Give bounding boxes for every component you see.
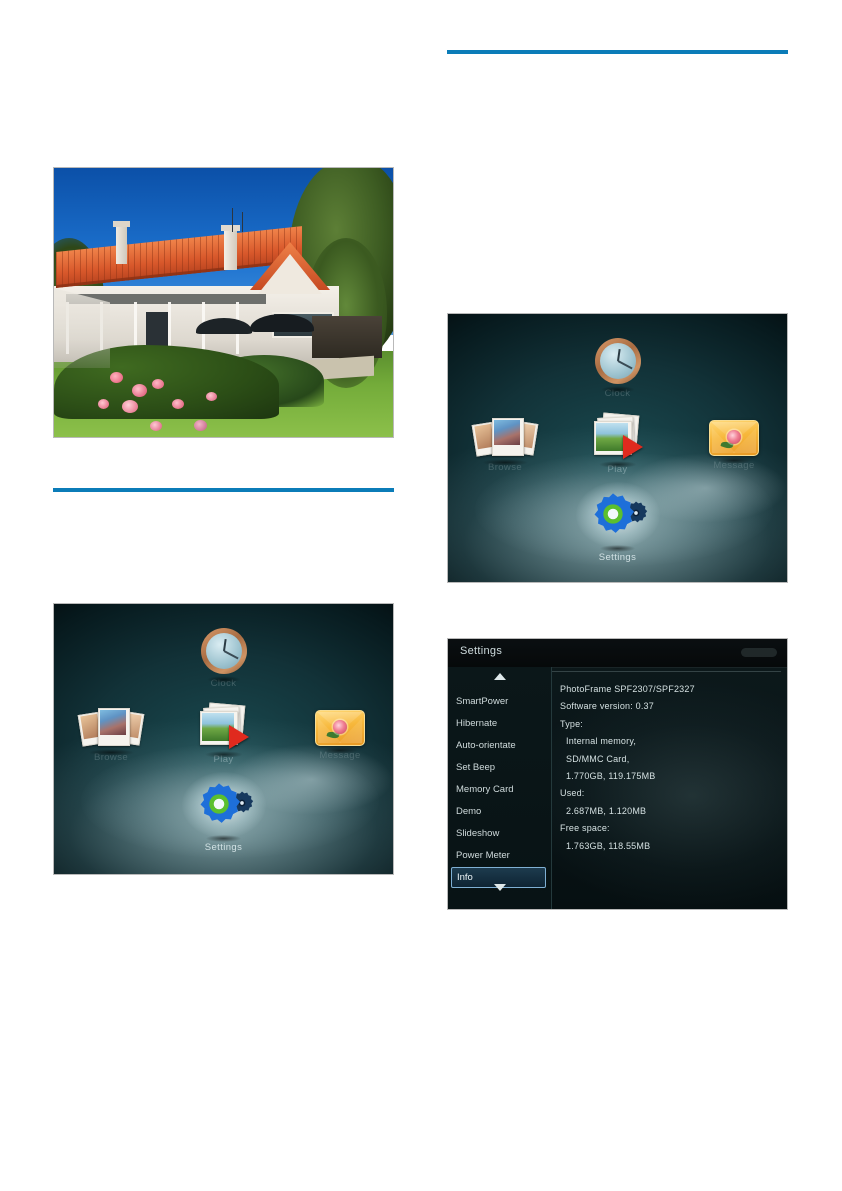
detail-free-values: 1.763GB, 118.55MB <box>560 838 787 855</box>
doorway <box>146 312 168 348</box>
rose-bloom <box>206 392 217 401</box>
menu-item-label: Settings <box>587 552 649 563</box>
settings-detail-panel: PhotoFrame SPF2307/SPF2327 Software vers… <box>552 667 787 909</box>
photoframe-settings-info-screen: Settings SmartPower Hibernate Auto-orien… <box>447 638 788 910</box>
detail-type-card: SD/MMC Card, <box>560 751 787 768</box>
menu-item-label: Settings <box>193 842 255 853</box>
antenna-a <box>232 208 233 232</box>
settings-gear-icon <box>587 490 649 540</box>
photoframe-screen: Clock Browse Play <box>54 604 393 874</box>
photo-scene <box>54 168 393 437</box>
rose-bloom <box>110 372 123 383</box>
settings-menu-list[interactable]: SmartPower Hibernate Auto-orientate Set … <box>448 667 552 909</box>
menu-item-browse[interactable]: Browse <box>474 416 536 473</box>
rose-bloom <box>152 379 164 389</box>
menu-item-settings[interactable]: Settings <box>193 780 255 853</box>
photoframe-home-menu-right: Clock Browse Pla <box>447 313 788 583</box>
document-page: Clock Browse Pla <box>0 0 842 1191</box>
clock-icon <box>595 338 641 384</box>
primary-gear-icon <box>591 492 635 536</box>
detail-software-version: Software version: 0.37 <box>560 698 787 715</box>
menu-item-settings[interactable]: Settings <box>587 490 649 563</box>
photoframe-home-menu-left: Clock Browse Play <box>53 603 394 875</box>
rose-bloom <box>122 400 138 413</box>
settings-header: Settings <box>448 639 787 668</box>
settings-item-auto-orientate[interactable]: Auto-orientate <box>451 735 546 756</box>
rose-bloom <box>98 399 109 409</box>
detail-divider <box>552 671 781 672</box>
header-indicator <box>741 648 777 657</box>
message-icon <box>709 420 759 456</box>
settings-screen: Settings SmartPower Hibernate Auto-orien… <box>448 639 787 909</box>
detail-type-capacity: 1.770GB, 119.175MB <box>560 768 787 785</box>
settings-item-hibernate[interactable]: Hibernate <box>451 713 546 734</box>
scroll-up-arrow-icon[interactable] <box>494 673 506 680</box>
rose-bloom <box>194 420 207 431</box>
rose-bloom <box>150 421 162 431</box>
side-shade <box>312 316 382 358</box>
rose-bloom <box>172 399 184 409</box>
chimney-right <box>224 230 237 270</box>
rose-bloom <box>132 384 147 397</box>
play-icon <box>198 704 250 750</box>
settings-item-set-beep[interactable]: Set Beep <box>451 757 546 778</box>
house-garden-photo <box>53 167 394 438</box>
chimney-left <box>116 226 127 264</box>
play-icon <box>592 414 644 460</box>
detail-free-label: Free space: <box>560 820 787 837</box>
settings-item-smartpower[interactable]: SmartPower <box>451 691 546 712</box>
browse-icon <box>474 416 536 458</box>
settings-item-memory-card[interactable]: Memory Card <box>451 779 546 800</box>
menu-item-message[interactable]: Message <box>709 420 759 471</box>
message-icon <box>315 710 365 746</box>
settings-item-slideshow[interactable]: Slideshow <box>451 823 546 844</box>
menu-item-message[interactable]: Message <box>315 710 365 761</box>
detail-model: PhotoFrame SPF2307/SPF2327 <box>560 681 787 698</box>
detail-used-label: Used: <box>560 785 787 802</box>
section-rule-left <box>53 488 394 492</box>
section-rule-right <box>447 50 788 54</box>
scroll-down-arrow-icon[interactable] <box>494 884 506 891</box>
antenna-b <box>242 212 243 232</box>
menu-item-clock[interactable]: Clock <box>595 338 641 399</box>
clock-icon <box>201 628 247 674</box>
menu-item-play[interactable]: Play <box>592 414 644 475</box>
settings-item-power-meter[interactable]: Power Meter <box>451 845 546 866</box>
menu-item-browse[interactable]: Browse <box>80 706 142 763</box>
browse-icon <box>80 706 142 748</box>
settings-gear-icon <box>193 780 255 830</box>
settings-title: Settings <box>460 645 502 657</box>
detail-type-internal: Internal memory, <box>560 733 787 750</box>
detail-type-label: Type: <box>560 716 787 733</box>
photoframe-screen: Clock Browse Pla <box>448 314 787 582</box>
detail-used-values: 2.687MB, 1.120MB <box>560 803 787 820</box>
settings-item-demo[interactable]: Demo <box>451 801 546 822</box>
menu-item-play[interactable]: Play <box>198 704 250 765</box>
menu-item-clock[interactable]: Clock <box>201 628 247 689</box>
primary-gear-icon <box>197 782 241 826</box>
